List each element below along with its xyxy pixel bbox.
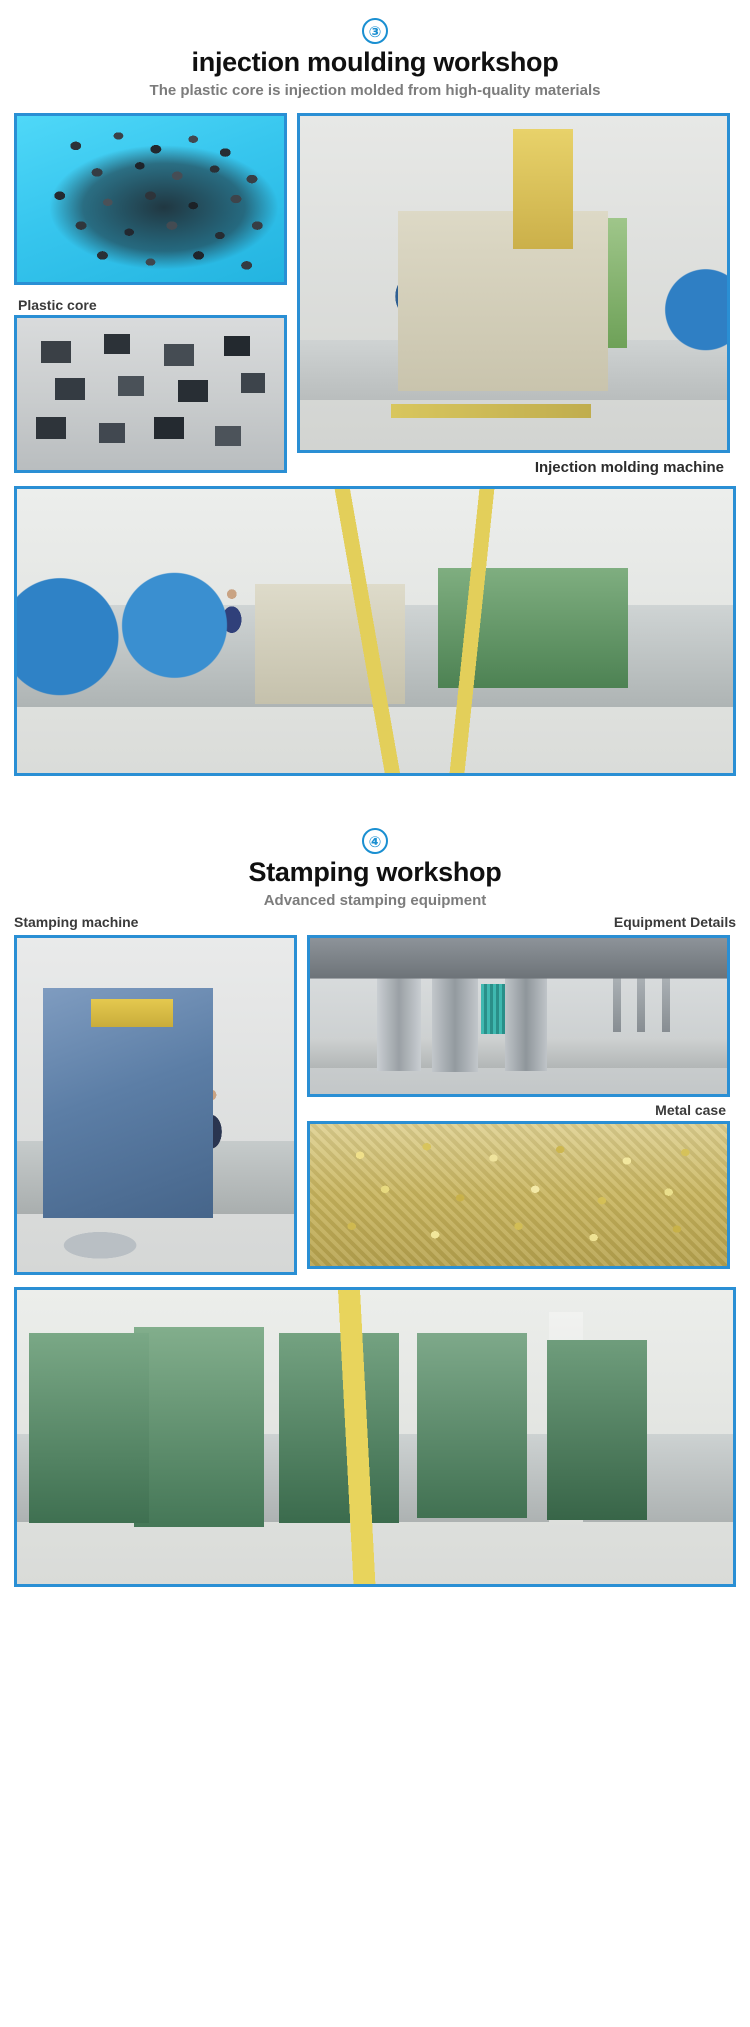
section-3-right-column: Injection molding machine [297,113,730,476]
section-3-left-column: Plastic core [14,113,287,476]
section-injection-moulding: ③ injection moulding workshop The plasti… [0,0,750,776]
plastic-pellets-image [17,116,284,282]
product-detail-page: ③ injection moulding workshop The plasti… [0,0,750,1587]
plastic-core-block: Plastic core [14,293,287,473]
stamping-press-photo[interactable] [14,935,297,1275]
plastic-pellets-photo[interactable] [14,113,287,285]
injection-machine-caption: Injection molding machine [297,453,730,476]
injection-workshop-hall-image [17,489,733,773]
stamping-machine-caption: Stamping machine [14,914,138,931]
plastic-cores-image [17,318,284,470]
section-3-header: ③ injection moulding workshop The plasti… [0,0,750,101]
cnc-machine-hall-image [17,1290,733,1584]
injection-machine-photo[interactable] [297,113,730,453]
section-3-title: injection moulding workshop [0,47,750,78]
metal-case-image [310,1124,727,1266]
metal-case-photo[interactable] [307,1121,730,1269]
section-4-image-grid: Metal case [14,935,736,1275]
section-3-image-grid: Plastic core Injection molding machine [14,113,736,476]
equipment-details-image [310,938,727,1094]
step-number-badge-4: ④ [362,828,388,854]
plastic-cores-photo[interactable] [14,315,287,473]
equipment-details-photo[interactable] [307,935,730,1097]
stamping-press-image [17,938,294,1272]
section-stamping-workshop: ④ Stamping workshop Advanced stamping eq… [0,810,750,1587]
injection-workshop-hall-photo[interactable] [14,486,736,776]
section-4-header: ④ Stamping workshop Advanced stamping eq… [0,810,750,911]
section-4-left-column [14,935,297,1275]
section-4-caption-row: Stamping machine Equipment Details [14,911,736,931]
section-4-subtitle: Advanced stamping equipment [0,892,750,911]
plastic-core-caption: Plastic core [14,293,287,315]
cnc-machine-hall-photo[interactable] [14,1287,736,1587]
equipment-details-caption: Equipment Details [614,914,736,931]
step-number-badge-3: ③ [362,18,388,44]
section-4-right-column: Metal case [307,935,730,1275]
metal-case-caption: Metal case [307,1097,730,1121]
section-divider-spacer [0,776,750,810]
section-3-subtitle: The plastic core is injection molded fro… [0,82,750,101]
section-4-title: Stamping workshop [0,857,750,888]
injection-machine-image [300,116,727,450]
